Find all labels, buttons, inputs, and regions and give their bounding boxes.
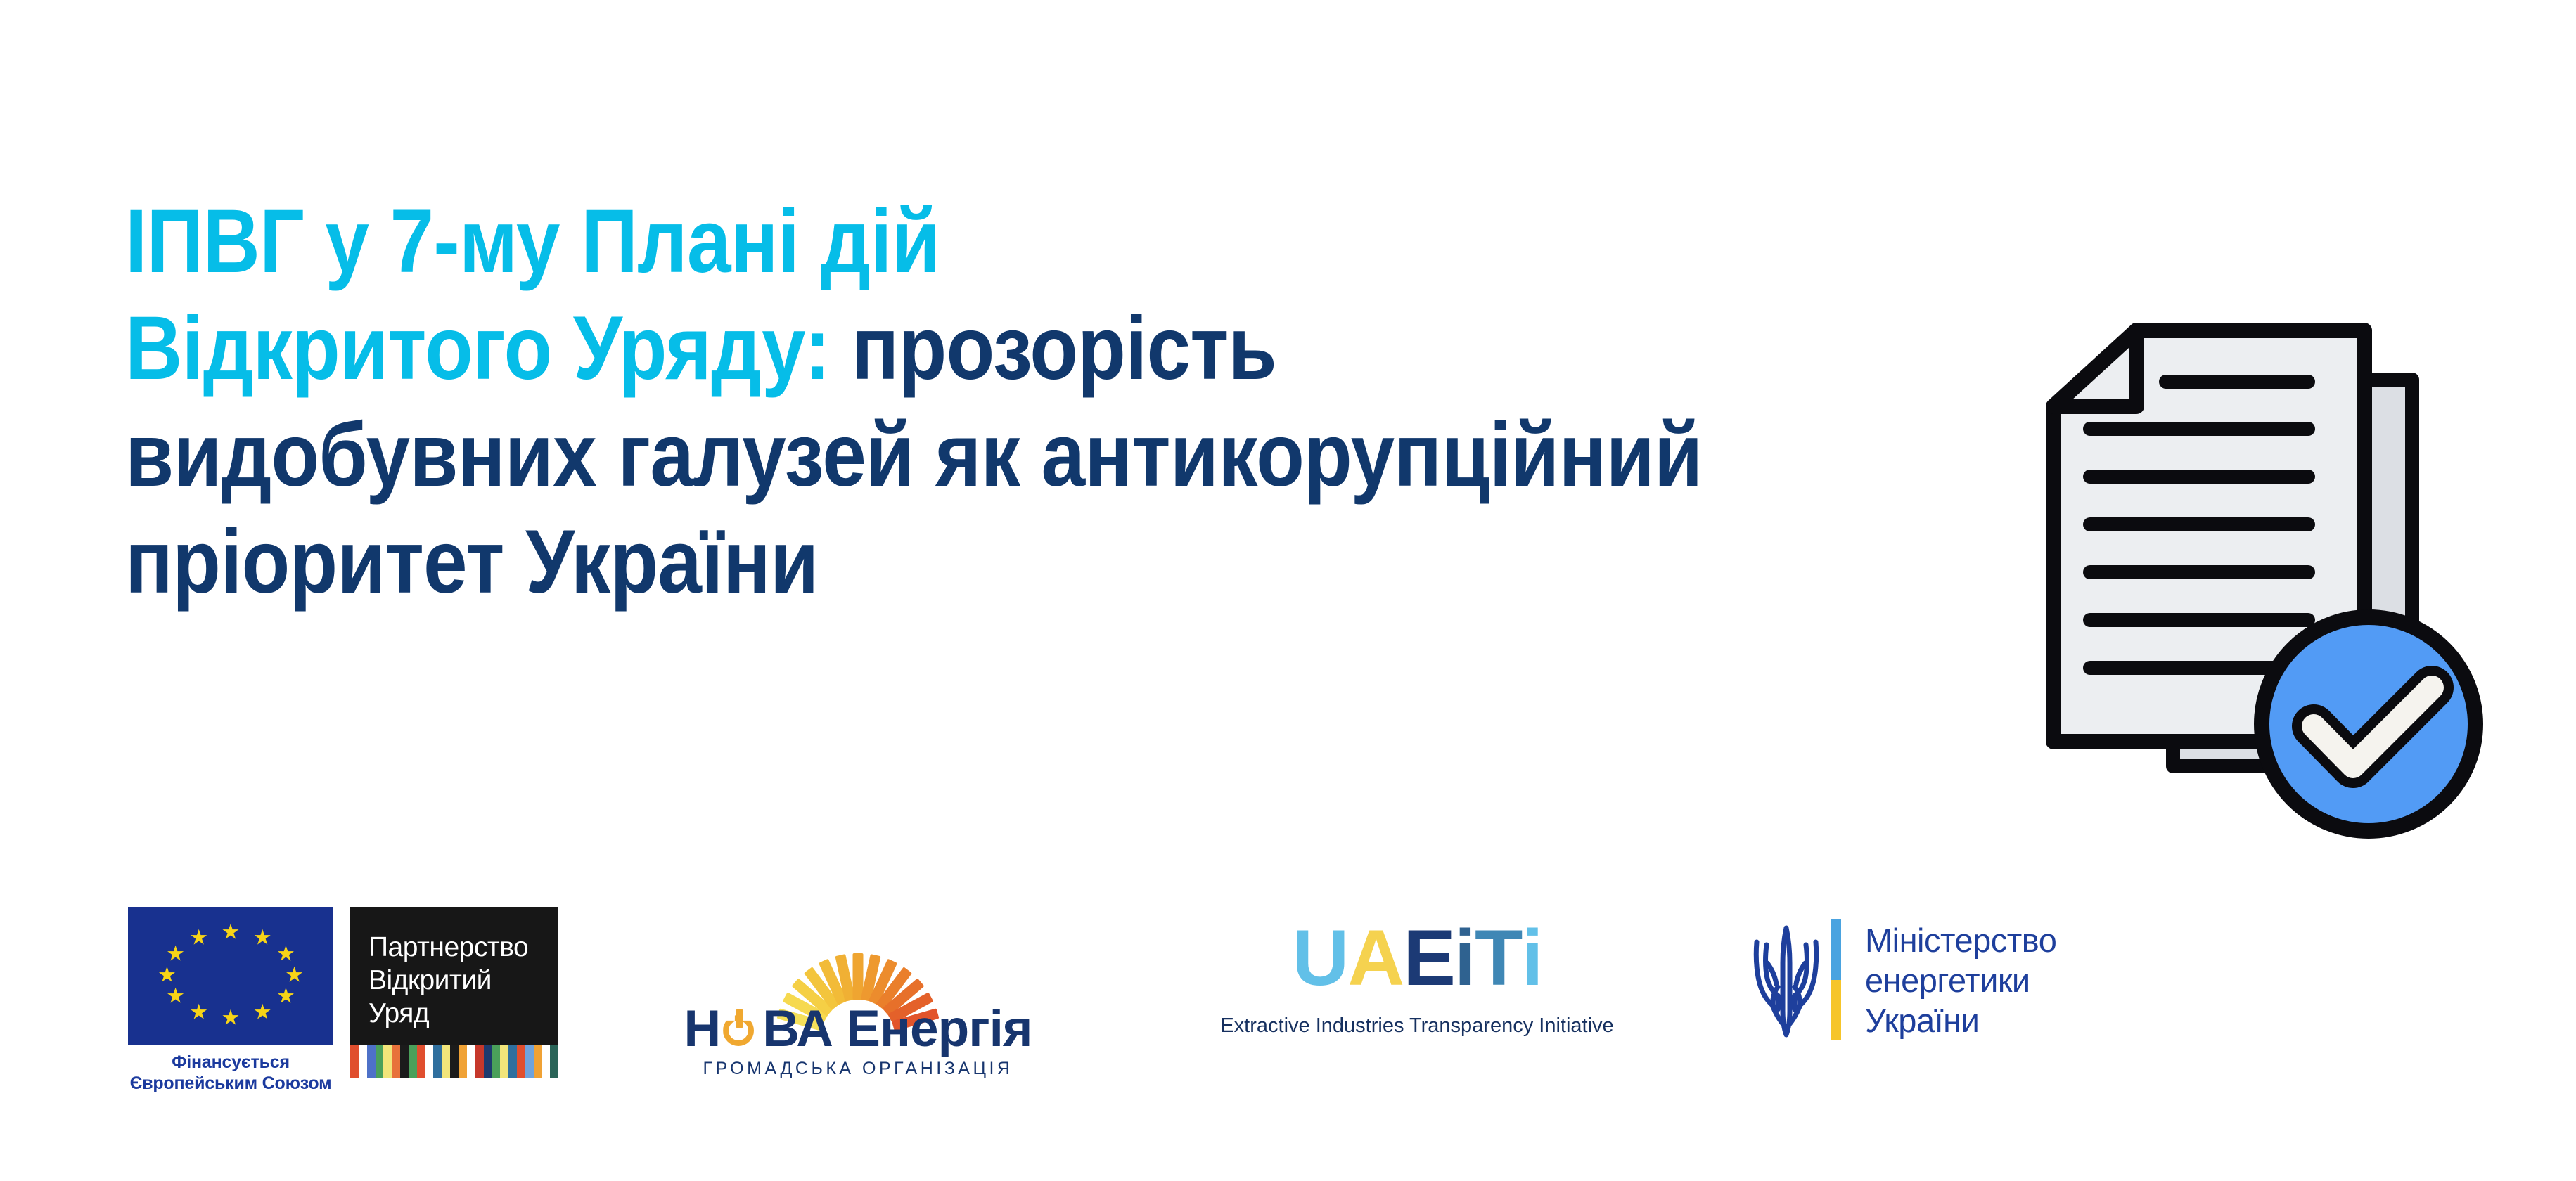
ministry-of-energy-logo: Міністерство енергетики України xyxy=(1741,919,2234,1040)
partner-logo-strip: ★★★★★★★★★★★★ Фінансується Європейським С… xyxy=(0,907,2576,1139)
page-title: ІПВГ у 7-му Плані дій Відкритого Уряду: … xyxy=(125,188,1504,616)
title-line-4: пріоритет України xyxy=(125,509,1338,616)
ogp-color-bar xyxy=(433,1045,442,1078)
document-checkmark-illustration xyxy=(1962,302,2497,858)
ogp-color-bar xyxy=(350,1045,359,1078)
nova-energia-logo: НВА Енергія ГРОМАДСЬКА ОРГАНІЗАЦІЯ xyxy=(647,917,1069,1079)
ministry-line-2: енергетики xyxy=(1865,960,2056,1000)
nova-letter-n: Н xyxy=(684,1000,720,1057)
ogp-color-bar xyxy=(467,1045,475,1078)
ogp-line-1: Партнерство xyxy=(369,931,540,964)
eiti-letter: i xyxy=(1521,917,1542,1000)
ua-eiti-wordmark: UAEiTi xyxy=(1157,917,1677,1000)
eiti-letter: A xyxy=(1347,917,1403,1000)
ogp-color-bar xyxy=(383,1045,392,1078)
ministry-line-3: України xyxy=(1865,1000,2056,1040)
eiti-letter: T xyxy=(1475,917,1521,1000)
nova-rest: ВА Енергія xyxy=(762,1000,1032,1057)
title-segment-cyan: ІПВГ у 7-му Плані дій xyxy=(125,191,940,292)
ogp-line-2: Відкритий xyxy=(369,964,540,997)
eiti-letter: U xyxy=(1292,917,1347,1000)
power-button-icon xyxy=(721,1012,762,1052)
title-line-2: Відкритого Уряду: прозорість xyxy=(125,295,1338,402)
sun-rays-icon xyxy=(682,917,1034,1000)
ogp-color-bar xyxy=(359,1045,367,1078)
ogp-color-bar xyxy=(500,1045,508,1078)
ogp-color-bar xyxy=(542,1045,550,1078)
ua-eiti-subtitle: Extractive Industries Transparency Initi… xyxy=(1157,1014,1677,1038)
ogp-color-bar xyxy=(376,1045,384,1078)
ogp-color-bar xyxy=(508,1045,517,1078)
ogp-color-bar xyxy=(525,1045,534,1078)
ogp-color-bar xyxy=(409,1045,417,1078)
ogp-logo: Партнерство Відкритий Уряд xyxy=(350,907,558,1078)
ogp-line-3: Уряд xyxy=(369,997,540,1030)
title-segment-navy: пріоритет України xyxy=(125,512,818,612)
eu-funding-logo: ★★★★★★★★★★★★ Фінансується Європейським С… xyxy=(125,907,336,1094)
ministry-name: Міністерство енергетики України xyxy=(1865,920,2056,1040)
ministry-flag-divider xyxy=(1831,919,1841,1040)
ogp-color-bar xyxy=(367,1045,376,1078)
ogp-color-bar xyxy=(442,1045,450,1078)
divider-yellow xyxy=(1831,980,1841,1040)
ogp-color-bar xyxy=(425,1045,434,1078)
ogp-color-bar xyxy=(492,1045,500,1078)
title-line-1: ІПВГ у 7-му Плані дій xyxy=(125,188,1338,295)
ogp-color-bar xyxy=(550,1045,558,1078)
eu-caption-line-1: Фінансується xyxy=(125,1052,336,1073)
eu-caption: Фінансується Європейським Союзом xyxy=(125,1052,336,1094)
title-segment-cyan: Відкритого Уряду: xyxy=(125,298,830,399)
ua-eiti-logo: UAEiTi Extractive Industries Transparenc… xyxy=(1157,917,1677,1038)
title-segment-navy: прозорість xyxy=(830,298,1276,399)
ogp-color-bar xyxy=(400,1045,409,1078)
ogp-color-bar xyxy=(450,1045,459,1078)
ogp-color-bar xyxy=(534,1045,542,1078)
eiti-letter: i xyxy=(1454,917,1475,1000)
divider-blue xyxy=(1831,919,1841,980)
eu-caption-line-2: Європейським Союзом xyxy=(125,1073,336,1094)
ogp-black-box: Партнерство Відкритий Уряд xyxy=(350,907,558,1045)
nova-energia-subtitle: ГРОМАДСЬКА ОРГАНІЗАЦІЯ xyxy=(647,1059,1069,1079)
ukraine-trident-icon xyxy=(1741,919,1831,1040)
title-segment-navy: видобувних галузей як антикорупційний xyxy=(125,405,1702,505)
ogp-color-bar xyxy=(417,1045,425,1078)
presentation-banner: ІПВГ у 7-му Плані дій Відкритого Уряду: … xyxy=(0,0,2576,1181)
ministry-line-1: Міністерство xyxy=(1865,920,2056,960)
eiti-letter: E xyxy=(1403,917,1454,1000)
ogp-color-bar xyxy=(475,1045,484,1078)
title-line-3: видобувних галузей як антикорупційний xyxy=(125,402,1338,509)
ogp-color-bar xyxy=(392,1045,400,1078)
ogp-color-bars xyxy=(350,1045,558,1078)
ogp-color-bar xyxy=(484,1045,492,1078)
nova-energia-wordmark: НВА Енергія xyxy=(647,1001,1069,1057)
eu-flag-icon: ★★★★★★★★★★★★ xyxy=(128,907,333,1045)
ogp-color-bar xyxy=(517,1045,525,1078)
ogp-color-bar xyxy=(459,1045,467,1078)
